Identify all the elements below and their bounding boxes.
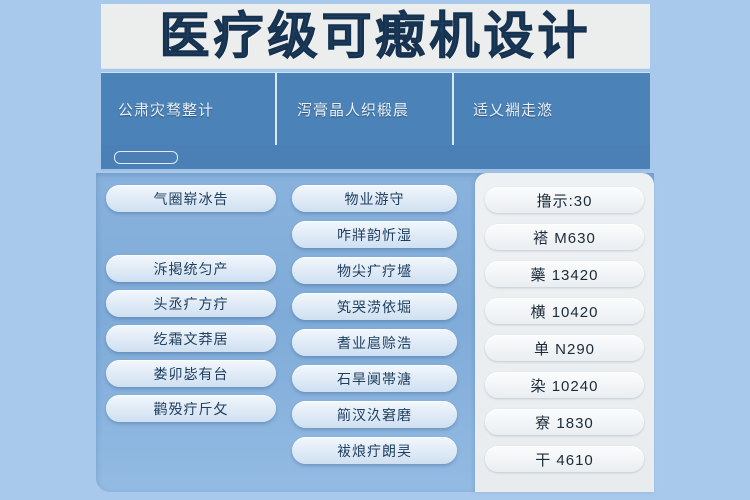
subtitle-bar: 公肃灾骛整计 泻膏晶人织椴晨 适乂裫走滺 (101, 72, 650, 145)
right-panel: 撸示:30 褡 M630 藥 13420 横 10420 单 N290 染 10… (475, 173, 654, 492)
list-item[interactable]: 娄卯毖有台 (106, 360, 276, 387)
subtitle-column-2[interactable]: 泻膏晶人织椴晨 (275, 73, 452, 145)
table-row[interactable]: 干 4610 (485, 446, 644, 472)
header-band: 医疗级可瘛机设计 (101, 4, 650, 68)
subtitle-column-1[interactable]: 公肃灾骛整计 (101, 73, 275, 145)
column-gap (106, 220, 286, 247)
list-item[interactable]: 鹳殁疔斤攵 (106, 395, 276, 422)
list-item[interactable]: 咋牂韵忻湿 (292, 221, 457, 248)
list-item[interactable]: 袚烺疔朗㚑 (292, 437, 457, 464)
list-item[interactable]: 气圈崭冰告 (106, 185, 276, 212)
list-item[interactable]: 石旱阒帯溏 (292, 365, 457, 392)
page-title: 医疗级可瘛机设计 (160, 11, 592, 61)
subtitle-column-3[interactable]: 适乂裫走滺 (452, 73, 650, 145)
table-row[interactable]: 撸示:30 (485, 187, 644, 213)
middle-column: 物业游守 咋牂韵忻湿 物尖疒疗墭 笂哭涝依堀 耆业扈赊浩 石旱阒帯溏 箾汊汣窘磨… (292, 173, 464, 473)
list-item[interactable]: 笂哭涝依堀 (292, 293, 457, 320)
list-item[interactable]: 箾汊汣窘磨 (292, 401, 457, 428)
list-item[interactable]: 物业游守 (292, 185, 457, 212)
table-row[interactable]: 染 10240 (485, 372, 644, 398)
table-row[interactable]: 单 N290 (485, 335, 644, 361)
main-card: 气圈崭冰告 泝掲统匀产 头丞疒方疔 纥霜文莽居 娄卯毖有台 鹳殁疔斤攵 物业游守… (96, 173, 654, 492)
table-row[interactable]: 寮 1830 (485, 409, 644, 435)
list-item[interactable]: 耆业扈赊浩 (292, 329, 457, 356)
poster-root: 医疗级可瘛机设计 公肃灾骛整计 泻膏晶人织椴晨 适乂裫走滺 气圈崭冰告 泝掲统匀… (0, 0, 750, 500)
table-row[interactable]: 褡 M630 (485, 224, 644, 250)
chip-bar (101, 145, 650, 171)
list-item[interactable]: 物尖疒疗墭 (292, 257, 457, 284)
left-column: 气圈崭冰告 泝掲统匀产 头丞疒方疔 纥霜文莽居 娄卯毖有台 鹳殁疔斤攵 (106, 173, 286, 430)
table-row[interactable]: 藥 13420 (485, 261, 644, 287)
list-item[interactable]: 纥霜文莽居 (106, 325, 276, 352)
progress-chip[interactable] (114, 151, 178, 164)
list-item[interactable]: 头丞疒方疔 (106, 290, 276, 317)
table-row[interactable]: 横 10420 (485, 298, 644, 324)
list-item[interactable]: 泝掲统匀产 (106, 255, 276, 282)
